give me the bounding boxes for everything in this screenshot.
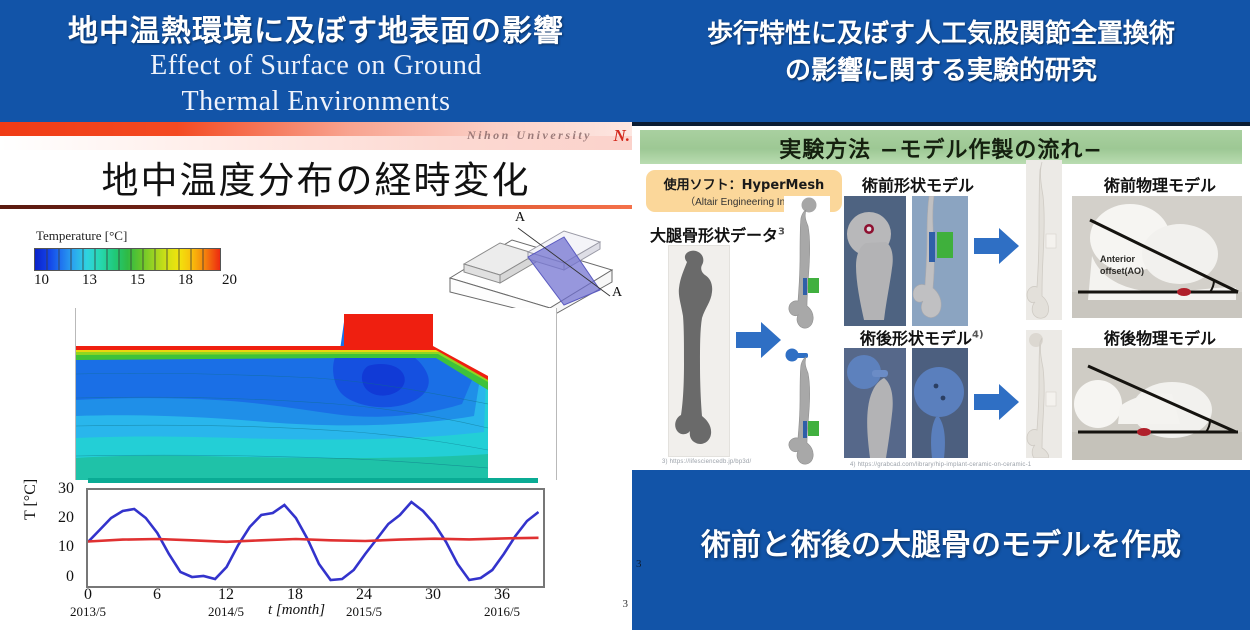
left-slide-page-number: 3 bbox=[623, 598, 629, 610]
contour-bottom-teal-strip bbox=[88, 478, 538, 483]
right-bottom-banner: 術前と術後の大腿骨のモデルを作成 3 bbox=[632, 470, 1250, 630]
left-slide-heading: 地中温度分布の経時変化 bbox=[0, 150, 632, 204]
chart-xsub-2016: 2016/5 bbox=[467, 604, 537, 620]
slide-pair-screenshot: 地中温熱環境に及ぼす地表面の影響 Effect of Surface on Gr… bbox=[0, 0, 1250, 630]
temperature-time-series-chart bbox=[86, 488, 545, 588]
chart-ytick-20: 20 bbox=[44, 509, 74, 527]
university-logo: N. bbox=[613, 126, 630, 146]
label-postop-shape-model: 術後形状モデル4) bbox=[860, 325, 984, 349]
postop-femur-mesh-image bbox=[784, 345, 830, 467]
femur-xray-image bbox=[668, 245, 730, 457]
colorbar-tick-1: 13 bbox=[82, 272, 97, 289]
left-title-english-line2: Thermal Environments bbox=[0, 86, 632, 118]
software-name: 使用ソフト：HyperMesh bbox=[646, 174, 842, 193]
chart-xtick-12: 12 bbox=[206, 586, 246, 604]
colorbar-tick-3: 18 bbox=[178, 272, 193, 289]
preop-femur-mesh-image bbox=[784, 196, 830, 342]
left-slide: 地中温熱環境に及ぼす地表面の影響 Effect of Surface on Gr… bbox=[0, 0, 632, 630]
university-name: Nihon University bbox=[467, 128, 592, 143]
postop-shape-model-render-1 bbox=[844, 348, 906, 458]
chart-xsub-2015: 2015/5 bbox=[329, 604, 399, 620]
right-bottom-message: 術前と術後の大腿骨のモデルを作成 bbox=[632, 520, 1250, 564]
preop-printed-femur-photo bbox=[1026, 160, 1062, 320]
chart-xsub-2013: 2013/5 bbox=[53, 604, 123, 620]
chart-ytick-0: 0 bbox=[44, 568, 74, 586]
chart-x-axis-label: t [month] bbox=[268, 602, 325, 619]
chart-ytick-10: 10 bbox=[44, 538, 74, 556]
right-slide-page-number: 3 bbox=[636, 558, 642, 570]
arrow-xray-to-model bbox=[736, 320, 782, 365]
right-section-header-band: 実験方法 −モデル作製の流れ− bbox=[640, 130, 1242, 164]
chart-xtick-0: 0 bbox=[68, 586, 108, 604]
svg-text:Anterior: Anterior bbox=[1100, 254, 1136, 264]
preop-shape-model-render-2 bbox=[912, 196, 968, 326]
colorbar-tick-0: 10 bbox=[34, 272, 49, 289]
right-title-band: 歩行特性に及ぼす人工気股関節全置換術 の影響に関する実験的研究 bbox=[632, 0, 1250, 122]
label-femur-shape-data: 大腿骨形状データ3) bbox=[650, 222, 790, 246]
section-marker-a-bottom: A bbox=[612, 285, 622, 301]
label-preop-physical-model: 術前物理モデル bbox=[1104, 172, 1216, 196]
colorbar-tick-2: 15 bbox=[130, 272, 145, 289]
section-marker-a-top: A bbox=[515, 210, 525, 226]
chart-xtick-30: 30 bbox=[413, 586, 453, 604]
chart-xsub-2014: 2014/5 bbox=[191, 604, 261, 620]
left-heading-rule bbox=[0, 205, 632, 209]
chart-y-axis-label: T [°C] bbox=[22, 479, 40, 520]
left-title-english-line1: Effect of Surface on Ground bbox=[0, 50, 632, 82]
chart-xtick-24: 24 bbox=[344, 586, 384, 604]
postop-physical-model-photo bbox=[1072, 348, 1242, 460]
postop-shape-model-render-2 bbox=[912, 348, 968, 458]
preop-shape-model-render-1 bbox=[844, 196, 906, 326]
postop-printed-femur-photo bbox=[1026, 330, 1062, 458]
arrow-preop-to-physical bbox=[974, 226, 1020, 271]
label-postop-physical-model: 術後物理モデル bbox=[1104, 325, 1216, 349]
chart-xtick-36: 36 bbox=[482, 586, 522, 604]
right-section-header-text: 実験方法 −モデル作製の流れ− bbox=[640, 132, 1242, 164]
label-preop-shape-model: 術前形状モデル bbox=[862, 172, 974, 196]
right-title-line2: の影響に関する実験的研究 bbox=[638, 53, 1244, 90]
chart-xtick-6: 6 bbox=[137, 586, 177, 604]
right-slide: 歩行特性に及ぼす人工気股関節全置換術 の影響に関する実験的研究 実験方法 −モデ… bbox=[632, 0, 1250, 630]
arrow-postop-to-physical bbox=[974, 382, 1020, 427]
svg-text:offset(AO): offset(AO) bbox=[1100, 266, 1144, 276]
colorbar-tick-labels: 10 13 15 18 20 bbox=[30, 272, 230, 292]
temperature-colorbar bbox=[34, 248, 221, 271]
ground-temperature-contour-plot bbox=[75, 308, 557, 480]
colorbar-title: Temperature [°C] bbox=[36, 228, 127, 244]
footnote-marker-4: 4) bbox=[972, 330, 984, 341]
right-title: 歩行特性に及ぼす人工気股関節全置換術 の影響に関する実験的研究 bbox=[638, 16, 1244, 90]
isometric-site-diagram: A A bbox=[440, 212, 625, 317]
footnote-4: 4) https://grabcad.com/library/hip-impla… bbox=[850, 462, 1170, 468]
preop-physical-model-photo: Anterior offset(AO) bbox=[1072, 196, 1242, 318]
left-title-band: 地中温熱環境に及ぼす地表面の影響 Effect of Surface on Gr… bbox=[0, 0, 632, 122]
colorbar-tick-4: 20 bbox=[222, 272, 237, 289]
chart-ytick-30: 30 bbox=[44, 480, 74, 498]
right-title-line1: 歩行特性に及ぼす人工気股関節全置換術 bbox=[638, 16, 1244, 53]
left-title-japanese: 地中温熱環境に及ぼす地表面の影響 bbox=[0, 6, 632, 50]
